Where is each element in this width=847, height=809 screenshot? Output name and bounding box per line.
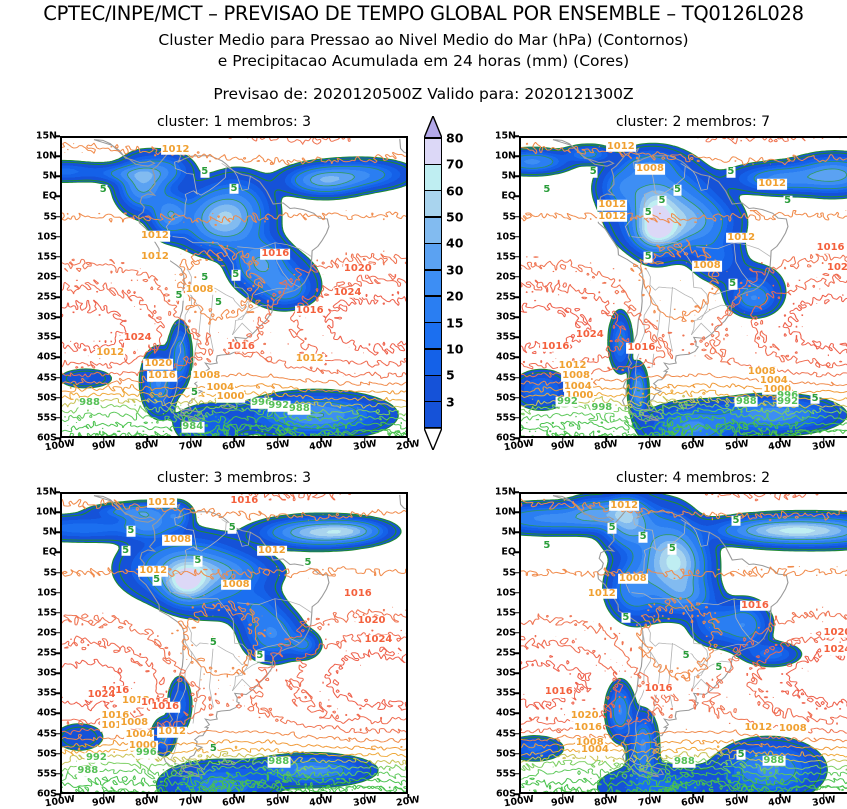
y-axis-label: 25S [37,292,57,303]
y-axis-label: 40S [496,352,516,363]
precipitation-colorbar: 80706050403020151053 [424,138,442,428]
colorbar-separator [424,375,442,377]
mslp-contour-label: 1016 [260,249,290,260]
colorbar-band [424,375,442,401]
precip-contour-label: 5 [231,270,240,281]
colorbar-band [424,349,442,375]
mslp-contour-label: 992 [267,401,290,412]
mslp-contour-label: 1024 [333,288,363,299]
panel-title-cluster-2: cluster: 2 membros: 7 [479,114,847,130]
y-axis-label: 40S [37,352,57,363]
precip-contour-label: 5 [726,167,735,178]
x-axis-label: 40W [308,794,333,809]
precip-contour-label: 5 [209,638,218,649]
y-axis-label: 5S [503,567,516,578]
y-axis-label: 45S [37,372,57,383]
mslp-contour-label: 1016 [544,687,574,698]
y-axis-label: 20S [37,271,57,282]
y-axis-label: 30S [496,312,516,323]
precip-contour-label: 5 [608,523,617,534]
mslp-contour-label: 1012 [147,498,177,509]
mslp-contour-label: 1020 [570,711,600,722]
mslp-contour-label: 998 [590,402,613,413]
mslp-contour-label: 988 [735,396,758,407]
colorbar-tick-label: 60 [446,183,463,198]
mslp-contour-label: 1012 [140,252,170,263]
panel-title-cluster-3: cluster: 3 membros: 3 [20,470,448,486]
plot-frame: 1012101610081012101210081016102010241016… [60,492,408,794]
x-axis-label: 90W [91,794,116,809]
mslp-contour-label: 1012 [587,589,617,600]
mslp-contour-label: 1008 [635,164,665,175]
colorbar-tick-label: 20 [446,289,463,304]
y-axis-label: 50S [37,392,57,403]
y-axis-label: 50S [37,748,57,759]
page-title: CPTEC/INPE/MCT – PREVISAO DE TEMPO GLOBA… [0,2,847,25]
x-axis-label: 60W [221,794,246,809]
y-axis-label: 10S [496,231,516,242]
colorbar-under-arrow [424,428,442,450]
colorbar-separator [424,322,442,324]
mslp-contour-label: 1012 [295,353,325,364]
colorbar-tick-label: 40 [446,236,463,251]
colorbar-tick-label: 50 [446,210,463,225]
colorbar-band [424,270,442,296]
y-axis-label: 5N [501,171,516,182]
mslp-contour-label: 1008 [221,580,251,591]
y-axis-label: 55S [37,768,57,779]
panel-title-cluster-1: cluster: 1 membros: 3 [20,114,448,130]
mslp-contour-label: 1020 [823,627,847,638]
colorbar-band [424,138,442,164]
mslp-contour-label: 988 [288,404,311,415]
mslp-contour-label: 988 [76,766,99,777]
precip-contour-label: 5 [673,185,682,196]
mslp-contour-label: 1024 [823,645,847,656]
mslp-contour-label: 1008 [618,574,648,585]
precip-contour-label: 5 [228,523,237,534]
mslp-contour-label: 1016 [540,341,570,352]
precip-contour-label: 5 [811,394,820,405]
mslp-contour-label: 1012 [161,145,191,156]
y-axis-label: 5N [42,171,57,182]
colorbar-separator [424,401,442,403]
y-axis-label: 10N [495,507,516,518]
mslp-contour-label: 992 [776,396,799,407]
map-panel-cluster-4[interactable]: 1012100810121016102010241016101610201016… [519,492,847,794]
colorbar-separator [424,295,442,297]
mslp-contour-label: 1000 [216,392,246,403]
x-axis-label: 20W [395,794,420,809]
mslp-contour-label: 1008 [192,371,222,382]
mslp-contour-label: 1020 [343,264,373,275]
precip-contour-label: 5 [174,291,183,302]
precip-contour-label: 5 [714,663,723,674]
y-axis-label: 40S [37,708,57,719]
mslp-contour-label: 1016 [816,243,846,254]
mslp-contour-label: 1020 [357,615,387,626]
panel-title-cluster-4: cluster: 4 membros: 2 [479,470,847,486]
colorbar-tick-label: 30 [446,262,463,277]
y-axis-label: EQ [42,191,57,202]
colorbar-band [424,164,442,190]
x-axis-label: 30W [352,438,377,453]
x-axis-label: 50W [265,794,290,809]
plot-frame: 1012101210121008101610201024101610121016… [60,136,408,438]
mslp-contour-label: 1016 [343,589,373,600]
precip-contour-label: 5 [126,526,135,537]
y-axis-label: 15S [37,251,57,262]
mslp-contour-label: 1008 [119,718,149,729]
colorbar-band [424,191,442,217]
precipitation-fill [521,494,847,794]
mslp-contour-label: 1012 [140,231,170,242]
mslp-contour-label: 1020 [826,262,847,273]
y-axis-label: 5N [501,527,516,538]
map-canvas [521,494,847,794]
mslp-contour-label: 1016 [573,723,603,734]
precip-contour-label: 5 [621,612,630,623]
precip-contour-label: 5 [152,575,161,586]
x-axis-label: 80W [134,794,159,809]
y-axis-label: 55S [496,768,516,779]
y-axis-label: 35S [37,332,57,343]
mslp-contour-label: 1012 [597,212,627,223]
colorbar-tick-label: 70 [446,157,463,172]
y-axis-label: 25S [496,648,516,659]
y-axis-label: 10N [36,507,57,518]
precip-contour-label: 5 [783,195,792,206]
x-axis-label: 40W [767,438,792,453]
mslp-contour-label: 988 [762,755,785,766]
x-axis-label: 70W [178,794,203,809]
y-axis-label: 15S [37,607,57,618]
y-axis-label: 15N [36,131,57,142]
mslp-contour-label: 1024 [87,690,117,701]
x-axis-label: 70W [637,438,662,453]
x-axis-label: 50W [724,794,749,809]
x-axis-label: 70W [637,794,662,809]
mslp-contour-label: 1008 [778,724,808,735]
mslp-contour-label: 1020 [143,359,173,370]
colorbar-tick-label: 10 [446,341,463,356]
mslp-contour-label: 984 [181,422,204,433]
precip-contour-label: 5 [668,544,677,555]
precip-contour-label: 5 [728,279,737,290]
y-axis-label: 15N [495,131,516,142]
colorbar-separator [424,216,442,218]
x-axis-label: 40W [767,794,792,809]
mslp-contour-label: 1012 [726,233,756,244]
mslp-contour-label: 1016 [147,371,177,382]
y-axis-label: 5S [44,567,57,578]
x-axis-label: 70W [178,438,203,453]
precip-contour-label: 5 [589,167,598,178]
colorbar-separator [424,190,442,192]
precip-contour-label: 5 [639,532,648,543]
y-axis-label: 55S [496,412,516,423]
colorbar-band [424,243,442,269]
mslp-contour-label: 1012 [597,200,627,211]
map-panel-cluster-3[interactable]: 1012101610081012101210081016102010241016… [60,492,408,794]
mslp-contour-label: 1016 [226,341,256,352]
x-axis-label: 90W [550,438,575,453]
y-axis-label: EQ [501,191,516,202]
y-axis-label: 35S [496,688,516,699]
mslp-contour-label: 1008 [162,535,192,546]
colorbar-separator [424,164,442,166]
y-axis-label: 35S [37,688,57,699]
precip-contour-label: 5 [255,651,264,662]
y-axis-label: 45S [496,728,516,739]
mslp-contour-label: 1004 [580,745,610,756]
y-axis-label: 30S [37,312,57,323]
x-axis-label: 40W [308,438,333,453]
precip-contour-label: 5 [121,545,130,556]
y-axis-label: 20S [37,627,57,638]
mslp-contour-label: 1016 [626,343,656,354]
mslp-contour-label: 1008 [185,285,215,296]
subtitle-line-1: Cluster Medio para Pressao ao Nivel Medi… [0,31,847,49]
mslp-contour-label: 1012 [95,347,125,358]
colorbar-band [424,296,442,322]
colorbar-separator [424,269,442,271]
mslp-contour-label: 988 [673,757,696,768]
y-axis-label: 55S [37,412,57,423]
y-axis-label: 10S [37,587,57,598]
colorbar-tick-label: 15 [446,315,463,330]
y-axis-label: 10S [37,231,57,242]
y-axis-label: 40S [496,708,516,719]
mslp-contour-label: 1016 [644,684,674,695]
map-panel-cluster-1[interactable]: 1012101210121008101610201024101610121016… [60,136,408,438]
y-axis-label: 10S [496,587,516,598]
precip-contour-label: 5 [193,556,202,567]
precip-contour-label: 5 [200,167,209,178]
forecast-valid-line: Previsao de: 2020120500Z Valido para: 20… [0,85,847,103]
y-axis-label: 5N [42,527,57,538]
y-axis-label: 45S [37,728,57,739]
colorbar-band [424,402,442,428]
mslp-contour-label: 1012 [743,723,773,734]
y-axis-label: EQ [501,547,516,558]
y-axis-label: 25S [37,648,57,659]
plot-frame: 1012100810121012101210121016102010081024… [519,136,847,438]
precip-contour-label: 5 [542,185,551,196]
map-canvas [62,494,408,794]
precip-contour-label: 5 [230,183,239,194]
colorbar-band [424,217,442,243]
x-axis-label: 50W [724,438,749,453]
colorbar-separator [424,137,442,139]
x-axis-label: 80W [593,438,618,453]
mslp-contour-label: 1008 [692,261,722,272]
y-axis-label: 50S [496,392,516,403]
mslp-contour-label: 1016 [150,702,180,713]
mslp-contour-label: 992 [556,396,579,407]
y-axis-label: 15S [496,607,516,618]
y-axis-label: 10N [495,151,516,162]
y-axis-label: 5S [503,211,516,222]
colorbar-tick-label: 3 [446,394,455,409]
x-axis-label: 30W [811,794,836,809]
precip-contour-label: 5 [99,185,108,196]
precip-contour-label: 5 [303,557,312,568]
mslp-contour-label: 1012 [606,142,636,153]
x-axis-label: 30W [811,438,836,453]
colorbar-separator [424,243,442,245]
x-axis-label: 90W [91,438,116,453]
y-axis-label: 15N [495,487,516,498]
precip-contour-label: 5 [737,750,746,761]
x-axis-label: 60W [221,438,246,453]
y-axis-label: 20S [496,627,516,638]
y-axis-label: 10N [36,151,57,162]
precip-contour-label: 5 [682,651,691,662]
y-axis-label: 30S [496,668,516,679]
precip-contour-label: 5 [190,388,199,399]
y-axis-label: 45S [496,372,516,383]
x-axis-label: 30W [352,794,377,809]
x-axis-label: 80W [593,794,618,809]
y-axis-label: 5S [44,211,57,222]
mslp-contour-label: 1016 [295,306,325,317]
y-axis-label: 30S [37,668,57,679]
y-axis-label: 50S [496,748,516,759]
mslp-contour-label: 1012 [157,727,187,738]
mslp-contour-label: 1024 [364,635,394,646]
mslp-contour-label: 1016 [229,496,259,507]
map-panel-cluster-2[interactable]: 1012100810121012101210121016102010081024… [519,136,847,438]
mslp-contour-label: 988 [78,398,101,409]
colorbar-tick-label: 5 [446,368,455,383]
y-axis-label: 35S [496,332,516,343]
x-axis-label: 60W [680,438,705,453]
y-axis-label: 20S [496,271,516,282]
y-axis-label: 15N [36,487,57,498]
mslp-contour-label: 992 [85,752,108,763]
precip-contour-label: 5 [658,195,667,206]
precip-contour-label: 5 [732,516,741,527]
mslp-contour-label: 1012 [757,179,787,190]
mslp-contour-label: 1016 [740,601,770,612]
colorbar-tick-label: 80 [446,131,463,146]
x-axis-label: 20W [395,438,420,453]
mslp-contour-label: 1012 [257,545,287,556]
plot-frame: 1012100810121016102010241016101610201016… [519,492,847,794]
x-axis-label: 50W [265,438,290,453]
precip-contour-label: 5 [200,273,209,284]
precip-contour-label: 5 [542,541,551,552]
subtitle-line-2: e Precipitacao Acumulada em 24 horas (mm… [0,52,847,70]
y-axis-label: 15S [496,251,516,262]
mslp-contour-label: 1024 [575,329,605,340]
x-axis-label: 90W [550,794,575,809]
mslp-contour-label: 1024 [123,332,153,343]
mslp-contour-label: 1012 [609,501,639,512]
colorbar-over-arrow [424,116,442,138]
mslp-contour-label: 996 [135,748,158,759]
precip-contour-label: 5 [214,298,223,309]
x-axis-label: 80W [134,438,159,453]
colorbar-band [424,323,442,349]
x-axis-label: 60W [680,794,705,809]
mslp-contour-label: 988 [267,757,290,768]
precip-contour-label: 5 [644,207,653,218]
precip-contour-label: 5 [644,252,653,263]
colorbar-separator [424,348,442,350]
precip-contour-label: 5 [209,744,218,755]
y-axis-label: EQ [42,547,57,558]
y-axis-label: 25S [496,292,516,303]
